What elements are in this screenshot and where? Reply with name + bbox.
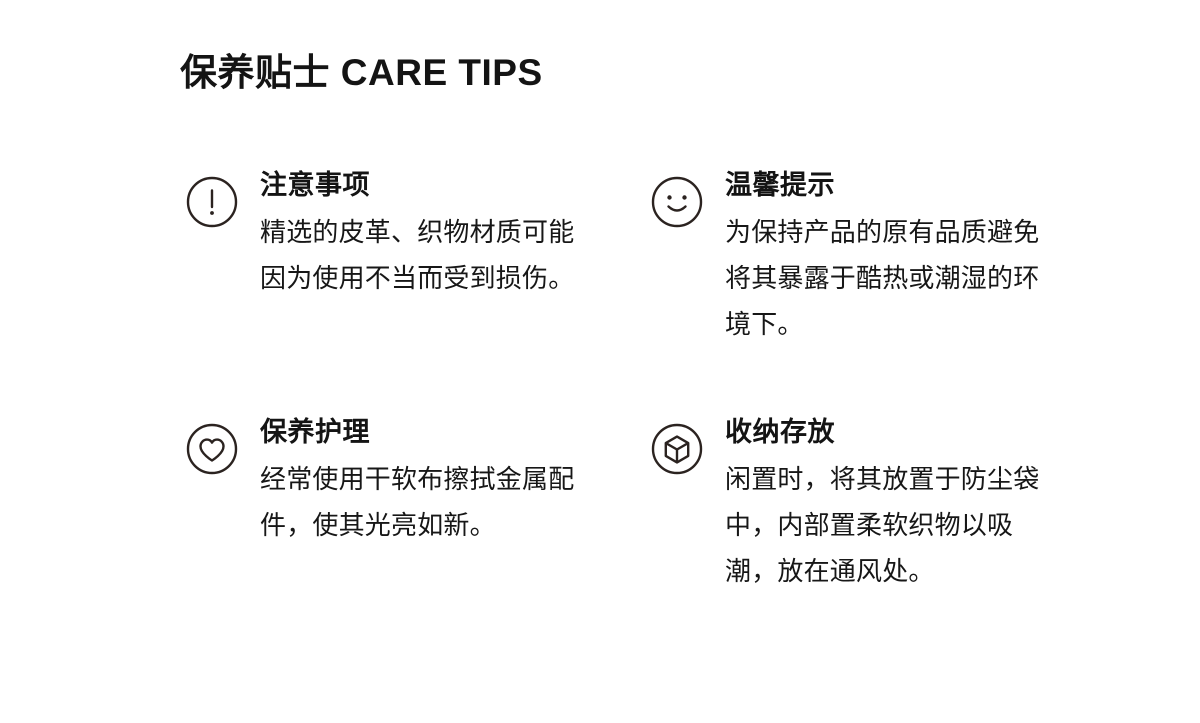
care-tips-grid: 注意事项 精选的皮革、织物材质可能因为使用不当而受到损伤。 温馨提示 为保持产品… — [186, 168, 1116, 594]
tip-text: 精选的皮革、织物材质可能因为使用不当而受到损伤。 — [260, 209, 580, 301]
tip-text: 经常使用干软布擦拭金属配件，使其光亮如新。 — [260, 456, 580, 548]
tip-title: 温馨提示 — [725, 168, 1071, 203]
tip-body: 保养护理 经常使用干软布擦拭金属配件，使其光亮如新。 — [260, 415, 606, 548]
tip-title: 收纳存放 — [725, 415, 1071, 450]
smiley-face-circle-icon — [651, 176, 703, 228]
tip-body: 收纳存放 闲置时，将其放置于防尘袋中，内部置柔软织物以吸潮，放在通风处。 — [725, 415, 1071, 594]
tip-card-maintenance: 保养护理 经常使用干软布擦拭金属配件，使其光亮如新。 — [186, 415, 606, 594]
tip-card-reminder: 温馨提示 为保持产品的原有品质避免将其暴露于酷热或潮湿的环境下。 — [651, 168, 1071, 347]
tip-title: 保养护理 — [260, 415, 606, 450]
care-tips-page: 保养贴士 CARE TIPS 注意事项 精选的皮革、织物材质可能因为使用不当而受… — [0, 0, 1200, 723]
tip-body: 温馨提示 为保持产品的原有品质避免将其暴露于酷热或潮湿的环境下。 — [725, 168, 1071, 347]
box-cube-circle-icon — [651, 423, 703, 475]
page-title: 保养贴士 CARE TIPS — [180, 50, 543, 96]
tip-body: 注意事项 精选的皮革、织物材质可能因为使用不当而受到损伤。 — [260, 168, 606, 301]
tip-text: 闲置时，将其放置于防尘袋中，内部置柔软织物以吸潮，放在通风处。 — [725, 456, 1045, 594]
tip-title: 注意事项 — [260, 168, 606, 203]
exclamation-circle-icon — [186, 176, 238, 228]
tip-card-storage: 收纳存放 闲置时，将其放置于防尘袋中，内部置柔软织物以吸潮，放在通风处。 — [651, 415, 1071, 594]
tip-text: 为保持产品的原有品质避免将其暴露于酷热或潮湿的环境下。 — [725, 209, 1045, 347]
heart-circle-icon — [186, 423, 238, 475]
tip-card-notice: 注意事项 精选的皮革、织物材质可能因为使用不当而受到损伤。 — [186, 168, 606, 347]
